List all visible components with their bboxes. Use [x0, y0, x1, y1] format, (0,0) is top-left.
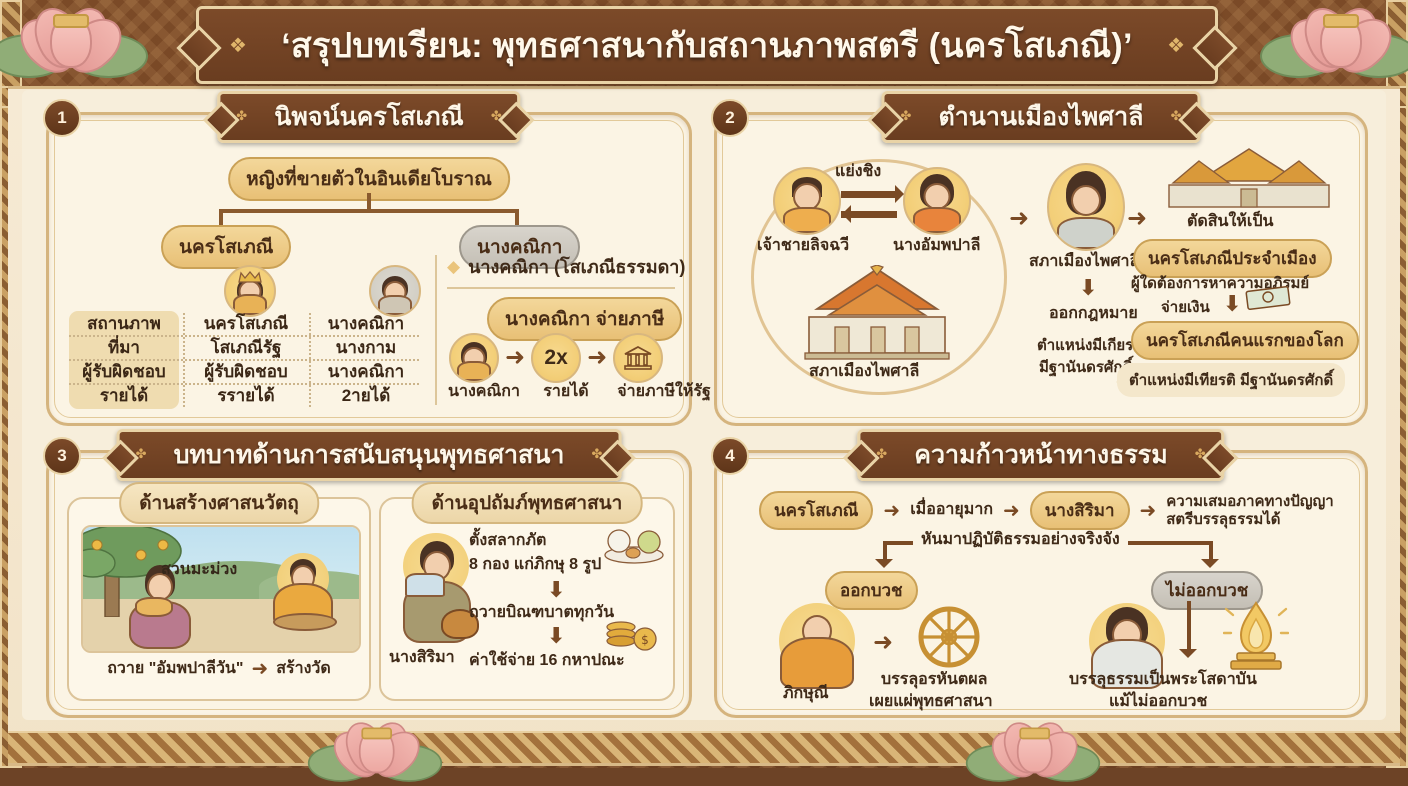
panel-4-flow-step-2: เมื่ออายุมาก: [910, 501, 993, 519]
arrow-right-icon: ➜: [1140, 501, 1157, 521]
panel-1-header: ✤ นิพจน์นครโสเภณี ✤: [217, 91, 520, 143]
bank-icon: [613, 333, 663, 383]
panel-2-decide-pill[interactable]: นครโสเภณีประจำเมือง: [1133, 239, 1332, 278]
panel-4-split-label: หันมาปฏิบัติธรรมอย่างจริงจัง: [913, 531, 1128, 549]
panel-2-council-label: สภาเมืองไพศาลี: [1029, 253, 1139, 271]
panel-4-number: 4: [711, 437, 749, 475]
panel-2-honor-line-1: ตำแหน่งมีเกียรติ: [1037, 337, 1143, 354]
panel-3-right-box: ด้านอุปถัมภ์พุทธศาสนา นางสิริมา ตั้งสลาก…: [379, 497, 675, 701]
panel-2-monk-label: เจ้าชายลิจฉวี: [757, 237, 849, 255]
mango-tray-icon: [135, 597, 173, 617]
arrow-right-icon: ➜: [587, 346, 607, 370]
panel-4-left-person-label: ภิกษุณี: [783, 685, 829, 703]
panel-1-divider: [435, 255, 437, 405]
panel-2-woman-label: นางอัมพปาลี: [893, 237, 980, 255]
panel-3-title: บทบาทด้านการสนับสนุนพุทธศาสนา: [174, 435, 565, 475]
tax-flow-label: จ่ายภาษีให้รัฐ: [609, 383, 719, 401]
dharma-wheel-icon: [917, 605, 981, 669]
vaishali-temple-icon: [787, 265, 967, 361]
panel-1-branch-left-pill[interactable]: นครโสเภณี: [161, 225, 291, 269]
panel-1-number: 1: [43, 99, 81, 137]
panel-4-note-line-1: ความเสมอภาคทางปัญญา: [1166, 493, 1333, 510]
tax-flow-label: นางคณิกา: [445, 383, 523, 401]
panel-2-temple-label: สภาเมืองไพศาลี: [809, 363, 919, 381]
buddha-seat-icon: [273, 613, 337, 631]
table-row-header: ผู้รับผิดชอบ: [69, 359, 179, 383]
panel-2-decide-label: ตัดสินให้เป็น: [1187, 213, 1273, 231]
connector-horizontal: [219, 209, 519, 213]
table-row-header: สถานภาพ: [69, 311, 179, 335]
arrow-down-head-icon: [1179, 649, 1197, 667]
arrow-right-icon: ➜: [1127, 207, 1147, 231]
bhikkhuni-figure: [769, 603, 865, 689]
panel-1-tax-flow: ➜ 2x ➜: [449, 333, 663, 383]
sirima-figure: [395, 533, 479, 643]
table-cell: นางกาม: [313, 335, 419, 359]
panel-2-pay-line-2: จ่ายเงิน: [1161, 299, 1210, 316]
panel-4-right-arrow-shaft: [1187, 601, 1191, 653]
table-cell: โสเภณีรัฐ: [187, 335, 305, 359]
table-cell: รรายได้: [187, 383, 305, 407]
panel-3-step3: ค่าใช้จ่าย 16 กหาปณะ: [469, 651, 625, 670]
panel-1: 1 ✤ นิพจน์นครโสเภณี ✤ หญิงที่ขายตัวในอิน…: [46, 112, 692, 426]
panel-3-left-caption: ถวาย "อัมพปาลีวัน" ➜ สร้างวัด: [69, 659, 369, 679]
nang-ambapali-avatar: [903, 167, 971, 235]
diamond-bullet-icon: ◆: [447, 257, 460, 277]
flame-stupa-icon: [1223, 599, 1289, 675]
panel-2-law-label: ออกกฎหมาย: [1049, 305, 1138, 323]
panel-4-header: ✤ ความก้าวหน้าทางธรรม ✤: [857, 429, 1224, 481]
panel-3-scene-label: สวนมะม่วง: [161, 561, 237, 579]
panel-1-title: นิพจน์นครโสเภณี: [274, 97, 463, 137]
arrow-right-head-icon: [895, 185, 913, 203]
arrow-right-icon: ➜: [251, 659, 268, 679]
panel-4-right-result-1: บรรลุธรรมเป็นพระโสดาบัน: [1069, 671, 1257, 689]
panel-2-contest-label: แย่งชิง: [835, 163, 881, 181]
header-flower-right-icon: ✤: [491, 109, 502, 122]
panel-1-bullet-row: ◆ นางคณิกา (โสเภณีธรรมดา): [447, 257, 685, 278]
panel-4-title: ความก้าวหน้าทางธรรม: [914, 435, 1167, 475]
arrow-down-icon: ⬇: [547, 625, 565, 647]
banner-ornament-right-icon: ❖: [1167, 33, 1185, 58]
panel-4: 4 ✤ ความก้าวหน้าทางธรรม ✤ นครโสเภณี ➜ เม…: [714, 450, 1368, 718]
multiplier-value: 2x: [544, 346, 567, 370]
panel-4-top-flow: นครโสเภณี ➜ เมื่ออายุมาก ➜ นางสิริมา ➜ ค…: [759, 491, 1334, 530]
arrow-right-icon: ➜: [883, 501, 900, 521]
panel-4-note-line-2: สตรีบรรลุธรรมได้: [1166, 511, 1333, 528]
arrow-down-icon: ⬇: [1223, 293, 1241, 315]
panel-4-right-result-2: แม้ไม่ออกบวช: [1109, 693, 1207, 711]
woman-avatar-icon: [449, 333, 499, 383]
panel-1-tax-flow-labels: นางคณิกา รายได้ จ่ายภาษีให้รัฐ: [445, 383, 719, 401]
lotus-decoration-top-left: [0, 0, 144, 80]
panel-3-caption-right: สร้างวัด: [276, 660, 331, 678]
header-flower-left-icon: ✤: [236, 109, 247, 122]
arrow-right-icon: ➜: [505, 346, 525, 370]
lotus-decoration-top-right: [1264, 0, 1408, 80]
arrow-down-icon: ⬇: [547, 579, 565, 601]
header-flower-right-icon: ✤: [592, 447, 603, 460]
lotus-decoration-bottom-left: [311, 710, 439, 783]
buddha-figure: [271, 555, 335, 627]
panel-2-first-pill[interactable]: นครโสเภณีคนแรกของโลก: [1131, 321, 1359, 360]
table-row-header: รายได้: [69, 383, 179, 407]
panel-4-left-result-2: เผยแผ่พุทธศาสนา: [869, 693, 993, 711]
panel-1-bullet-text: นางคณิกา (โสเภณีธรรมดา): [468, 257, 685, 278]
panel-4-flow-step-3[interactable]: นางสิริมา: [1030, 491, 1130, 530]
prince-licchavi-avatar: [773, 167, 841, 235]
panel-3: 3 ✤ บทบาทด้านการสนับสนุนพุทธศาสนา ✤ ด้าน…: [46, 450, 692, 718]
table-cell: นครโสเภณี: [187, 311, 305, 335]
panel-3-header: ✤ บทบาทด้านการสนับสนุนพุทธศาสนา ✤: [117, 429, 622, 481]
mango-grove-scene: [81, 525, 361, 653]
table-row-header: ที่มา: [69, 335, 179, 359]
panel-1-rule: [447, 287, 675, 289]
multiplier-badge: 2x: [531, 333, 581, 383]
arrow-right-icon: ➜: [873, 631, 893, 655]
panel-3-left-head: ด้านสร้างศาสนวัตถุ: [119, 482, 319, 524]
panel-4-flow-step-1[interactable]: นครโสเภณี: [759, 491, 873, 530]
panel-3-number: 3: [43, 437, 81, 475]
table-cell: นางคณิกา: [313, 359, 419, 383]
arrow-right-shaft-icon: [841, 191, 897, 198]
panel-3-step1-line2: 8 กอง แก่ภิกษุ 8 รูป: [469, 555, 601, 574]
tax-flow-label: รายได้: [533, 383, 599, 401]
header-flower-left-icon: ✤: [900, 109, 911, 122]
header-flower-left-icon: ✤: [136, 447, 147, 460]
header-flower-right-icon: ✤: [1171, 109, 1182, 122]
panel-3-right-head: ด้านอุปถัมภ์พุทธศาสนา: [412, 482, 643, 524]
money-icon: [1245, 283, 1293, 311]
svg-text:$: $: [641, 633, 649, 647]
page-title: ‘สรุปบทเรียน: พุทธศาสนากับสถานภาพสตรี (น…: [281, 18, 1133, 72]
lotus-decoration-bottom-right: [969, 710, 1097, 783]
arrow-right-icon: ➜: [1003, 501, 1020, 521]
panel-1-comparison-table: สถานภาพ ที่มา ผู้รับผิดชอบ รายได้ นครโสเ…: [69, 311, 419, 409]
table-cell: ผู้รับผิดชอบ: [187, 359, 305, 383]
arrow-left-head-icon: [833, 205, 851, 223]
panel-4-left-result-1: บรรลุอรหันตผล: [881, 671, 987, 689]
grand-palace-icon: [1159, 147, 1339, 209]
panel-3-person-label: นางสิริมา: [389, 649, 455, 667]
table-cell: 2ายได้: [313, 383, 419, 407]
panel-3-left-box: ด้านสร้างศาสนวัตถุ: [67, 497, 371, 701]
council-woman-avatar: [1047, 163, 1125, 251]
banner-ornament-left-icon: ❖: [229, 33, 247, 58]
arrow-right-icon: ➜: [1009, 207, 1029, 231]
panel-2: 2 ✤ ตำนานเมืองไพศาลี ✤ แย่งชิง: [714, 112, 1368, 426]
arrow-down-icon: ⬇: [1079, 277, 1097, 299]
page-title-banner: ❖ ‘สรุปบทเรียน: พุทธศาสนากับสถานภาพสตรี …: [196, 6, 1218, 84]
table-cell: นางคณิกา: [313, 311, 419, 335]
panel-2-header: ✤ ตำนานเมืองไพศาลี ✤: [881, 91, 1200, 143]
crown-icon: [238, 271, 262, 283]
panel-3-step2: ถวายบิณฑบาตทุกวัน: [469, 603, 614, 622]
panel-2-number: 2: [711, 99, 749, 137]
header-flower-left-icon: ✤: [876, 447, 887, 460]
panel-3-step1-line1: ตั้งสลากภัต: [469, 531, 546, 550]
panel-2-tooltip: ตำแหน่งมีเทียรติ มีฐานันดรศักดิ์: [1117, 363, 1345, 397]
coins-icon: $: [603, 617, 659, 651]
panel-3-caption-left: ถวาย "อัมพปาลีวัน": [107, 660, 243, 678]
header-flower-right-icon: ✤: [1195, 447, 1206, 460]
panel-2-title: ตำนานเมืองไพศาลี: [938, 97, 1143, 137]
food-tray-icon: [603, 525, 665, 565]
